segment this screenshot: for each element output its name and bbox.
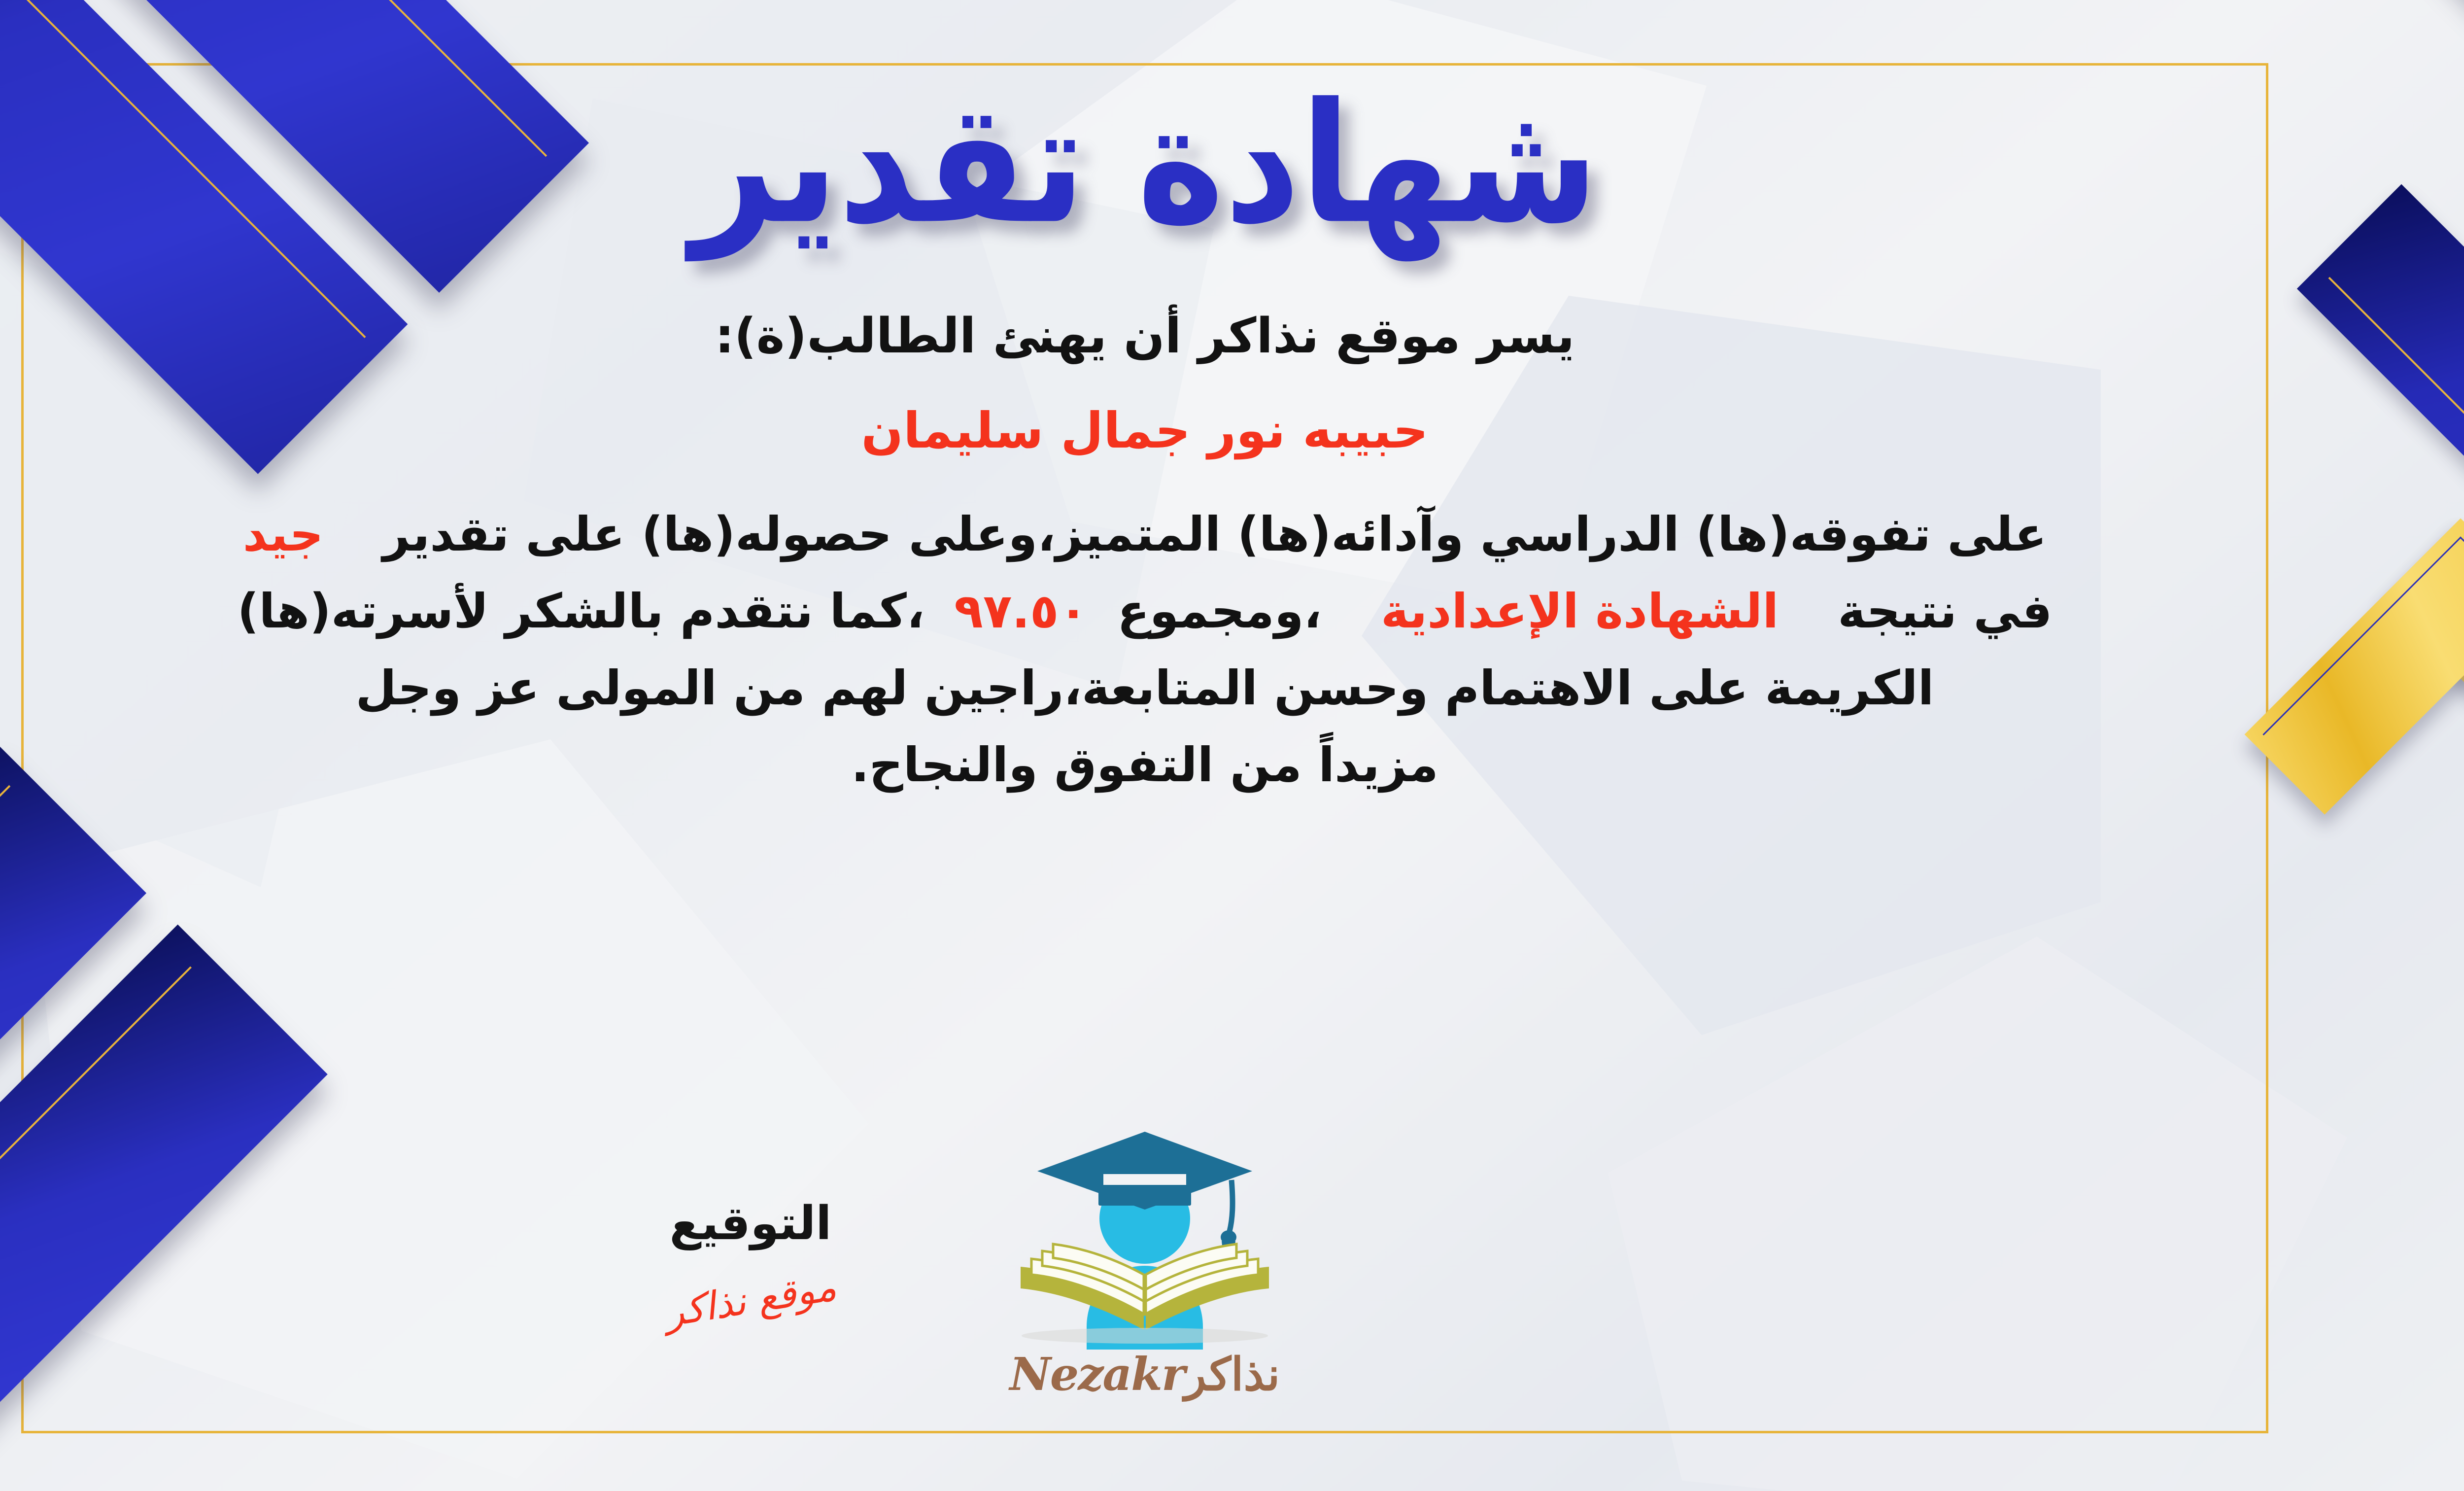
certificate-page: شهادة تقدير يسر موقع نذاكر أن يهنئ الطال… bbox=[0, 0, 2464, 1491]
intro-line: يسر موقع نذاكر أن يهنئ الطالب(ة): bbox=[80, 300, 2209, 373]
body-line-2: في نتيجةالشهادة الإعدادية،ومجموع٩٧.٥٠،كم… bbox=[80, 576, 2209, 648]
body-line-4: مزيداً من التفوق والنجاح. bbox=[80, 729, 2209, 801]
signature-block: التوقيع موقع نذاكر bbox=[578, 1197, 923, 1322]
signature-label: التوقيع bbox=[578, 1197, 923, 1250]
graduate-book-icon bbox=[958, 1118, 1332, 1350]
exam-name-value: الشهادة الإعدادية bbox=[1381, 584, 1779, 639]
body-line-1-text: على تفوقه(ها) الدراسي وآدائه(ها) المتميز… bbox=[383, 507, 2047, 562]
certificate-content: شهادة تقدير يسر موقع نذاكر أن يهنئ الطال… bbox=[21, 63, 2268, 1433]
logo-arabic-text: نذاكر bbox=[1184, 1348, 1280, 1401]
logo-latin-text: Nezakr bbox=[1010, 1348, 1185, 1401]
brand-logo: نذاكرNezakr bbox=[958, 1118, 1332, 1401]
body-line-3: الكريمة على الاهتمام وحسن المتابعة،راجين… bbox=[80, 653, 2209, 725]
score-value: ٩٧.٥٠ bbox=[954, 584, 1088, 639]
body-line-2-middle: ،ومجموع bbox=[1117, 584, 1322, 639]
student-name: حبيبه نور جمال سليمان bbox=[80, 402, 2209, 459]
body-line-2-prefix: في نتيجة bbox=[1838, 584, 2052, 639]
logo-wordmark: نذاكرNezakr bbox=[958, 1348, 1332, 1401]
body-paragraph: على تفوقه(ها) الدراسي وآدائه(ها) المتميز… bbox=[80, 499, 2209, 801]
signature-script: موقع نذاكر bbox=[577, 1251, 924, 1349]
certificate-footer: التوقيع موقع نذاكر bbox=[21, 1108, 2268, 1414]
certificate-title: شهادة تقدير bbox=[21, 73, 2268, 255]
body-line-2-suffix: ،كما نتقدم بالشكر لأسرته(ها) bbox=[238, 584, 925, 639]
body-line-1: على تفوقه(ها) الدراسي وآدائه(ها) المتميز… bbox=[80, 499, 2209, 571]
certificate-body: يسر موقع نذاكر أن يهنئ الطالب(ة): حبيبه … bbox=[21, 300, 2268, 801]
grade-value: جيد bbox=[243, 507, 324, 562]
